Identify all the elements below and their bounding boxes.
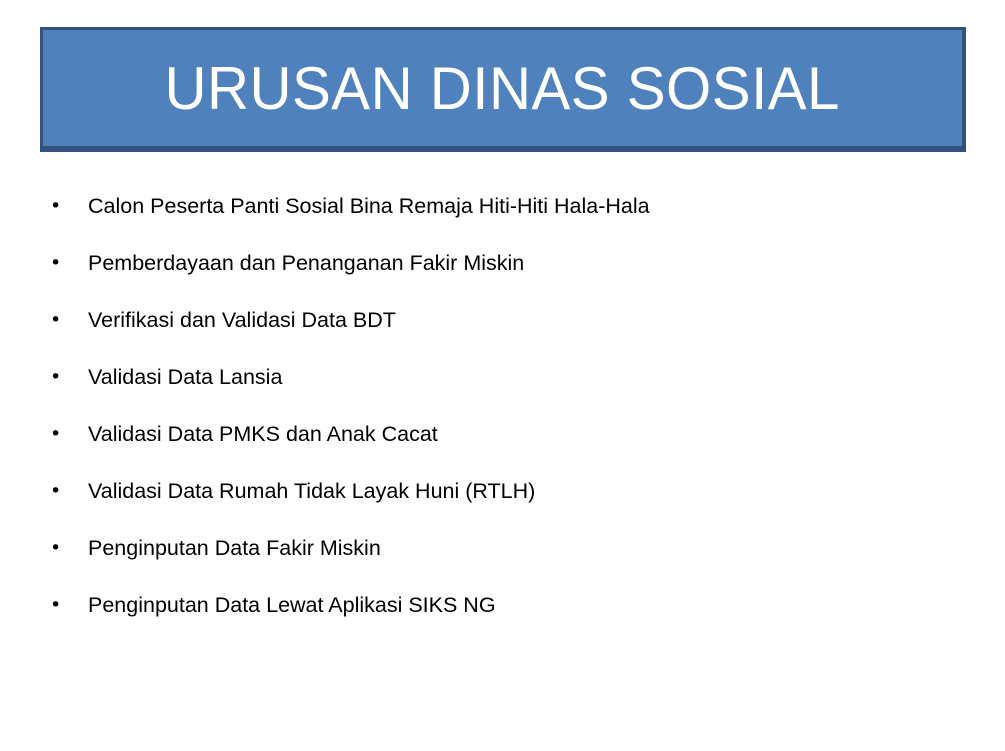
bullet-point-icon: • — [50, 292, 64, 349]
list-item-label: Calon Peserta Panti Sosial Bina Remaja H… — [88, 178, 650, 235]
slide-canvas: URUSAN DINAS SOSIAL • Calon Peserta Pant… — [0, 0, 1005, 751]
list-item: • Validasi Data PMKS dan Anak Cacat — [40, 406, 940, 463]
bullet-point-icon: • — [50, 463, 64, 520]
bullet-point-icon: • — [50, 235, 64, 292]
list-item-label: Validasi Data Rumah Tidak Layak Huni (RT… — [88, 463, 535, 520]
bullet-point-icon: • — [50, 178, 64, 235]
bullet-point-icon: • — [50, 520, 64, 577]
bullet-list: • Calon Peserta Panti Sosial Bina Remaja… — [40, 178, 940, 634]
list-item-label: Validasi Data Lansia — [88, 349, 282, 406]
list-item-label: Validasi Data PMKS dan Anak Cacat — [88, 406, 438, 463]
list-item: • Validasi Data Rumah Tidak Layak Huni (… — [40, 463, 940, 520]
bullet-point-icon: • — [50, 577, 64, 634]
bullet-point-icon: • — [50, 406, 64, 463]
list-item: • Validasi Data Lansia — [40, 349, 940, 406]
list-item-label: Penginputan Data Fakir Miskin — [88, 520, 381, 577]
list-item: • Verifikasi dan Validasi Data BDT — [40, 292, 940, 349]
list-item: • Calon Peserta Panti Sosial Bina Remaja… — [40, 178, 940, 235]
page-title: URUSAN DINAS SOSIAL — [165, 57, 840, 120]
bullet-point-icon: • — [50, 349, 64, 406]
title-banner: URUSAN DINAS SOSIAL — [40, 27, 966, 152]
list-item-label: Pemberdayaan dan Penanganan Fakir Miskin — [88, 235, 524, 292]
list-item-label: Verifikasi dan Validasi Data BDT — [88, 292, 396, 349]
list-item-label: Penginputan Data Lewat Aplikasi SIKS NG — [88, 577, 496, 634]
list-item: • Penginputan Data Lewat Aplikasi SIKS N… — [40, 577, 940, 634]
list-item: • Pemberdayaan dan Penanganan Fakir Misk… — [40, 235, 940, 292]
list-item: • Penginputan Data Fakir Miskin — [40, 520, 940, 577]
